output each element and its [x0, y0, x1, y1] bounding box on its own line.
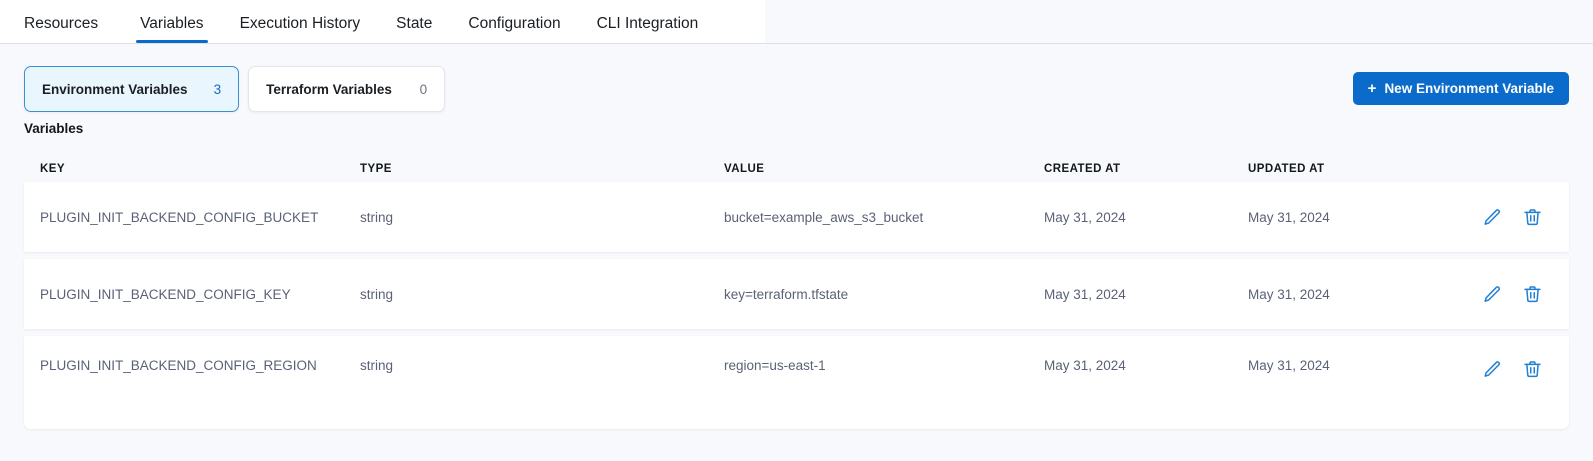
row-actions [1463, 283, 1553, 305]
cell-key: PLUGIN_INIT_BACKEND_CONFIG_REGION [40, 358, 360, 373]
page-title: Variables [24, 121, 1569, 136]
tab-state-label: State [396, 15, 432, 32]
table-row[interactable]: PLUGIN_INIT_BACKEND_CONFIG_KEY string ke… [24, 259, 1569, 329]
cell-updated-at: May 31, 2024 [1248, 287, 1463, 302]
new-environment-variable-label: New Environment Variable [1384, 81, 1554, 96]
chip-environment-variables-label: Environment Variables [42, 82, 188, 97]
column-header-updated-at: UPDATED AT [1248, 163, 1463, 175]
tab-variables-label: Variables [140, 15, 203, 32]
table-row[interactable]: PLUGIN_INIT_BACKEND_CONFIG_BUCKET string… [24, 182, 1569, 252]
top-navigation-bar: Resources Variables Execution History St… [0, 0, 1593, 44]
variables-toolbar: Environment Variables 3 Terraform Variab… [24, 66, 1569, 112]
cell-value: key=terraform.tfstate [724, 287, 1044, 302]
tab-variables[interactable]: Variables [122, 16, 221, 44]
tab-cli-integration-label: CLI Integration [597, 15, 699, 32]
chip-environment-variables[interactable]: Environment Variables 3 [24, 66, 239, 112]
tab-cli-integration[interactable]: CLI Integration [579, 16, 717, 44]
cell-type: string [360, 210, 724, 225]
edit-pencil-icon[interactable] [1481, 283, 1503, 305]
chip-environment-variables-count: 3 [214, 82, 222, 97]
column-header-key: KEY [40, 163, 360, 175]
column-header-value: VALUE [724, 163, 1044, 175]
cell-type: string [360, 358, 724, 373]
cell-updated-at: May 31, 2024 [1248, 210, 1463, 225]
tab-execution-history[interactable]: Execution History [222, 16, 379, 44]
tab-state[interactable]: State [378, 16, 450, 44]
tab-execution-history-label: Execution History [240, 15, 361, 32]
cell-created-at: May 31, 2024 [1044, 210, 1248, 225]
chip-terraform-variables-count: 0 [420, 82, 428, 97]
tab-resources-label: Resources [24, 15, 98, 32]
chip-terraform-variables-label: Terraform Variables [266, 82, 392, 97]
cell-type: string [360, 287, 724, 302]
cell-key: PLUGIN_INIT_BACKEND_CONFIG_BUCKET [40, 210, 360, 225]
tab-configuration[interactable]: Configuration [450, 16, 578, 44]
cell-created-at: May 31, 2024 [1044, 287, 1248, 302]
table-row[interactable]: PLUGIN_INIT_BACKEND_CONFIG_REGION string… [24, 336, 1569, 429]
chip-terraform-variables[interactable]: Terraform Variables 0 [248, 66, 445, 112]
trash-icon[interactable] [1521, 206, 1543, 228]
variables-page: Environment Variables 3 Terraform Variab… [0, 44, 1593, 429]
trash-icon[interactable] [1521, 358, 1543, 380]
cell-value: bucket=example_aws_s3_bucket [724, 210, 1044, 225]
row-actions [1463, 358, 1553, 380]
nav-tabs: Resources Variables Execution History St… [0, 0, 1593, 43]
column-header-type: TYPE [360, 163, 724, 175]
new-environment-variable-button[interactable]: + New Environment Variable [1353, 72, 1569, 105]
cell-value: region=us-east-1 [724, 358, 1044, 373]
table-header-row: KEY TYPE VALUE CREATED AT UPDATED AT [24, 156, 1569, 182]
variable-scope-chips: Environment Variables 3 Terraform Variab… [24, 66, 445, 112]
cell-updated-at: May 31, 2024 [1248, 358, 1463, 373]
variables-table: KEY TYPE VALUE CREATED AT UPDATED AT PLU… [24, 156, 1569, 429]
edit-pencil-icon[interactable] [1481, 206, 1503, 228]
row-actions [1463, 206, 1553, 228]
trash-icon[interactable] [1521, 283, 1543, 305]
plus-icon: + [1368, 81, 1377, 96]
edit-pencil-icon[interactable] [1481, 358, 1503, 380]
tab-configuration-label: Configuration [468, 15, 560, 32]
column-header-created-at: CREATED AT [1044, 163, 1248, 175]
cell-key: PLUGIN_INIT_BACKEND_CONFIG_KEY [40, 287, 360, 302]
cell-created-at: May 31, 2024 [1044, 358, 1248, 373]
tab-resources[interactable]: Resources [24, 16, 116, 44]
